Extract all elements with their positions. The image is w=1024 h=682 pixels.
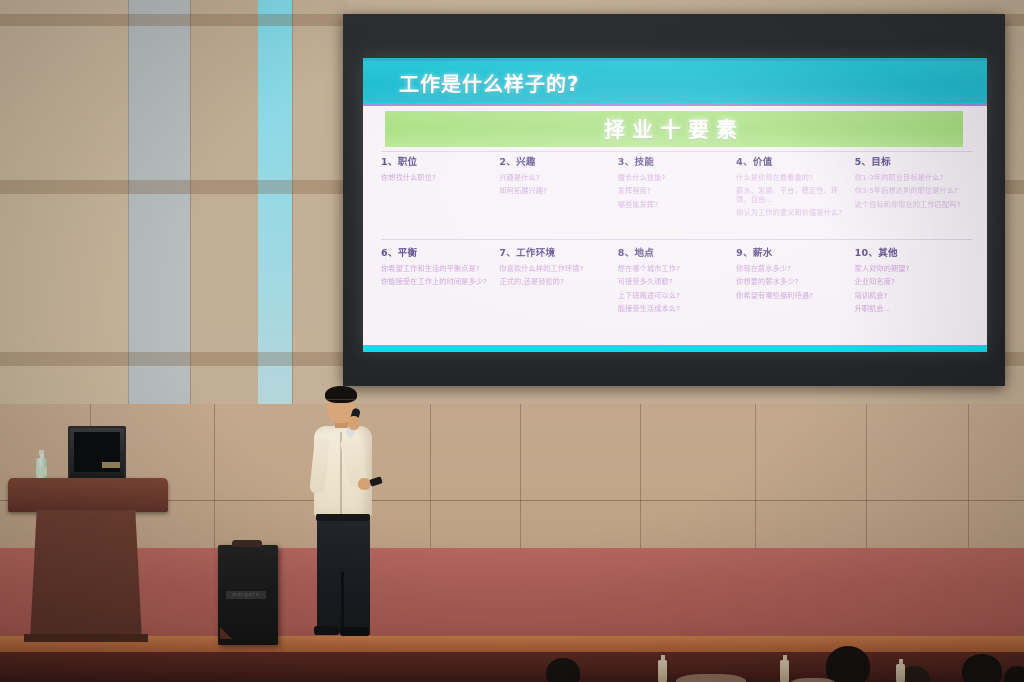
slide-item-3-sub-2: 发挥程度? bbox=[618, 187, 728, 195]
presenter-leg-split bbox=[341, 572, 344, 630]
slide-title: 工作是什么样子的? bbox=[399, 68, 580, 97]
slide-item-4-heading: 4、价值 bbox=[736, 154, 846, 168]
slide-item-4: 4、价值 什么是你现在最看重的? 薪水、发展、平台、稳定性、环境、自由... 你… bbox=[736, 154, 854, 242]
slide-item-8-number: 8、 bbox=[618, 248, 635, 259]
presenter-shoe-left bbox=[314, 626, 340, 635]
slide-item-10-title: 其他 bbox=[878, 248, 898, 259]
slide-item-1-title: 职位 bbox=[398, 157, 418, 168]
slide-banner-text: 择业十要素 bbox=[604, 114, 744, 144]
pa-speaker-handle bbox=[232, 540, 262, 547]
slide-item-9-sub-3: 你希望有哪些福利待遇? bbox=[736, 292, 846, 300]
podium-top bbox=[8, 478, 168, 512]
slide-row-2: 6、平衡 你希望工作和生活的平衡点是? 你能接受在工作上的时间是多少? 7、工作… bbox=[381, 245, 973, 333]
presentation-slide: 工作是什么样子的? 择业十要素 1、职位 你想找什么职位? 2、兴趣 兴趣是什么… bbox=[363, 58, 987, 352]
slide-item-3-heading: 3、技能 bbox=[618, 154, 728, 168]
slide-item-8: 8、地点 想在哪个城市工作? 可接受多久通勤? 上下班路途可以么? 能接受生活成… bbox=[618, 245, 736, 333]
slide-row-1: 1、职位 你想找什么职位? 2、兴趣 兴趣是什么? 如何拓展兴趣? 3、技能 擅… bbox=[381, 154, 973, 242]
slide-item-10-sub-3: 培训机会? bbox=[855, 292, 965, 300]
slide-item-5-number: 5、 bbox=[855, 157, 872, 168]
slide-title-underline bbox=[363, 103, 987, 106]
slide-item-7-heading: 7、工作环境 bbox=[499, 245, 609, 259]
slide-item-1: 1、职位 你想找什么职位? bbox=[381, 154, 499, 242]
slide-item-9-sub-2: 你想要的薪水多少? bbox=[736, 278, 846, 286]
podium-body bbox=[30, 510, 142, 640]
pa-speaker-brand-badge: meigete bbox=[226, 591, 266, 599]
slide-item-6-title: 平衡 bbox=[398, 248, 418, 259]
audience-shoulder bbox=[790, 678, 836, 682]
slide-item-6-sub-2: 你能接受在工作上的时间是多少? bbox=[381, 278, 491, 286]
presenter-belt bbox=[316, 514, 370, 521]
slide-item-10: 10、其他 家人对你的期望? 企业知名度? 培训机会? 升职机会... bbox=[855, 245, 973, 333]
slide-item-9-sub-1: 你现在薪水多少? bbox=[736, 265, 846, 273]
slide-item-2-sub-1: 兴趣是什么? bbox=[499, 174, 609, 182]
wall-seam-c bbox=[292, 0, 293, 412]
audience-water-bottle bbox=[658, 660, 667, 682]
slide-item-5-title: 目标 bbox=[871, 157, 891, 168]
slide-item-3-sub-1: 擅长什么技能? bbox=[618, 174, 728, 182]
slide-content-grid: 1、职位 你想找什么职位? 2、兴趣 兴趣是什么? 如何拓展兴趣? 3、技能 擅… bbox=[381, 154, 973, 344]
slide-item-10-number: 10、 bbox=[855, 248, 879, 259]
podium bbox=[8, 478, 168, 648]
slide-item-10-sub-1: 家人对你的期望? bbox=[855, 265, 965, 273]
monitor-badge bbox=[102, 462, 120, 468]
slide-item-10-heading: 10、其他 bbox=[855, 245, 965, 259]
pa-speaker-box: meigete bbox=[218, 545, 278, 645]
slide-item-6: 6、平衡 你希望工作和生活的平衡点是? 你能接受在工作上的时间是多少? bbox=[381, 245, 499, 333]
slide-item-6-heading: 6、平衡 bbox=[381, 245, 491, 259]
wall-panel-lit bbox=[258, 0, 292, 412]
slide-item-8-sub-1: 想在哪个城市工作? bbox=[618, 265, 728, 273]
slide-item-6-number: 6、 bbox=[381, 248, 398, 259]
slide-item-10-sub-4: 升职机会... bbox=[855, 305, 965, 313]
slide-item-8-sub-2: 可接受多久通勤? bbox=[618, 278, 728, 286]
slide-item-4-number: 4、 bbox=[736, 157, 753, 168]
slide-item-3: 3、技能 擅长什么技能? 发挥程度? 哪些能发挥? bbox=[618, 154, 736, 242]
wall-panel-4 bbox=[292, 0, 348, 412]
slide-item-5-sub-1: 你1-3年的职业目标是什么? bbox=[855, 174, 965, 182]
confidence-monitor bbox=[68, 426, 126, 482]
slide-item-7-title: 工作环境 bbox=[516, 248, 555, 259]
audience-water-bottle bbox=[896, 664, 905, 682]
wall-panel-3 bbox=[190, 0, 258, 412]
slide-item-5-heading: 5、目标 bbox=[855, 154, 965, 168]
slide-item-9-heading: 9、薪水 bbox=[736, 245, 846, 259]
slide-item-7-sub-1: 你喜欢什么样的工作环境? bbox=[499, 265, 609, 273]
slide-item-3-number: 3、 bbox=[618, 157, 635, 168]
audience-shoulder bbox=[676, 674, 746, 682]
glasses-icon bbox=[327, 399, 355, 404]
pa-speaker-corner bbox=[220, 627, 232, 639]
audience-head bbox=[826, 646, 870, 682]
presentation-scene: 工作是什么样子的? 择业十要素 1、职位 你想找什么职位? 2、兴趣 兴趣是什么… bbox=[0, 0, 1024, 682]
slide-banner: 择业十要素 bbox=[385, 111, 963, 147]
wall-panel-2 bbox=[128, 0, 190, 412]
audience-head bbox=[1004, 666, 1024, 682]
slide-item-3-title: 技能 bbox=[635, 157, 655, 168]
slide-item-5-sub-2: 你3-5年后想达到的职位是什么? bbox=[855, 187, 965, 195]
slide-item-9-title: 薪水 bbox=[753, 248, 773, 259]
slide-item-9: 9、薪水 你现在薪水多少? 你想要的薪水多少? 你希望有哪些福利待遇? bbox=[736, 245, 854, 333]
slide-item-7: 7、工作环境 你喜欢什么样的工作环境? 正式的,还是轻松的? bbox=[499, 245, 617, 333]
slide-item-4-sub-1: 什么是你现在最看重的? bbox=[736, 174, 846, 182]
presenter bbox=[300, 386, 396, 648]
slide-item-1-sub-1: 你想找什么职位? bbox=[381, 174, 491, 182]
slide-item-3-sub-3: 哪些能发挥? bbox=[618, 201, 728, 209]
audience-row bbox=[0, 640, 1024, 682]
projection-screen: 工作是什么样子的? 择业十要素 1、职位 你想找什么职位? 2、兴趣 兴趣是什么… bbox=[343, 14, 1005, 386]
slide-item-1-heading: 1、职位 bbox=[381, 154, 491, 168]
slide-item-9-number: 9、 bbox=[736, 248, 753, 259]
slide-item-4-title: 价值 bbox=[753, 157, 773, 168]
presenter-shoe-right bbox=[340, 627, 370, 636]
slide-item-2-title: 兴趣 bbox=[516, 157, 536, 168]
wall-seam-b bbox=[190, 0, 191, 412]
slide-item-7-number: 7、 bbox=[499, 248, 516, 259]
slide-item-6-sub-1: 你希望工作和生活的平衡点是? bbox=[381, 265, 491, 273]
slide-item-5-sub-3: 这个目标和你现在的工作匹配吗? bbox=[855, 201, 965, 209]
slide-item-8-sub-4: 能接受生活成本么? bbox=[618, 305, 728, 313]
slide-title-bar: 工作是什么样子的? bbox=[363, 61, 987, 103]
slide-item-2-heading: 2、兴趣 bbox=[499, 154, 609, 168]
slide-bottom-border bbox=[363, 345, 987, 352]
audience-head bbox=[962, 654, 1002, 682]
slide-item-2: 2、兴趣 兴趣是什么? 如何拓展兴趣? bbox=[499, 154, 617, 242]
audience-water-bottle bbox=[780, 660, 789, 682]
slide-item-8-title: 地点 bbox=[635, 248, 655, 259]
slide-item-1-number: 1、 bbox=[381, 157, 398, 168]
slide-item-7-sub-2: 正式的,还是轻松的? bbox=[499, 278, 609, 286]
wall-seam-a bbox=[128, 0, 129, 412]
slide-item-4-sub-3: 你认为工作的意义和价值是什么? bbox=[736, 209, 846, 217]
slide-item-4-sub-2: 薪水、发展、平台、稳定性、环境、自由... bbox=[736, 187, 846, 204]
slide-item-2-sub-2: 如何拓展兴趣? bbox=[499, 187, 609, 195]
slide-item-8-sub-3: 上下班路途可以么? bbox=[618, 292, 728, 300]
slide-item-5: 5、目标 你1-3年的职业目标是什么? 你3-5年后想达到的职位是什么? 这个目… bbox=[855, 154, 973, 242]
wall-panel-1 bbox=[0, 0, 128, 412]
slide-item-2-number: 2、 bbox=[499, 157, 516, 168]
slide-item-8-heading: 8、地点 bbox=[618, 245, 728, 259]
audience-head bbox=[546, 658, 580, 682]
presenter-hand-mic bbox=[348, 416, 360, 430]
slide-item-10-sub-2: 企业知名度? bbox=[855, 278, 965, 286]
